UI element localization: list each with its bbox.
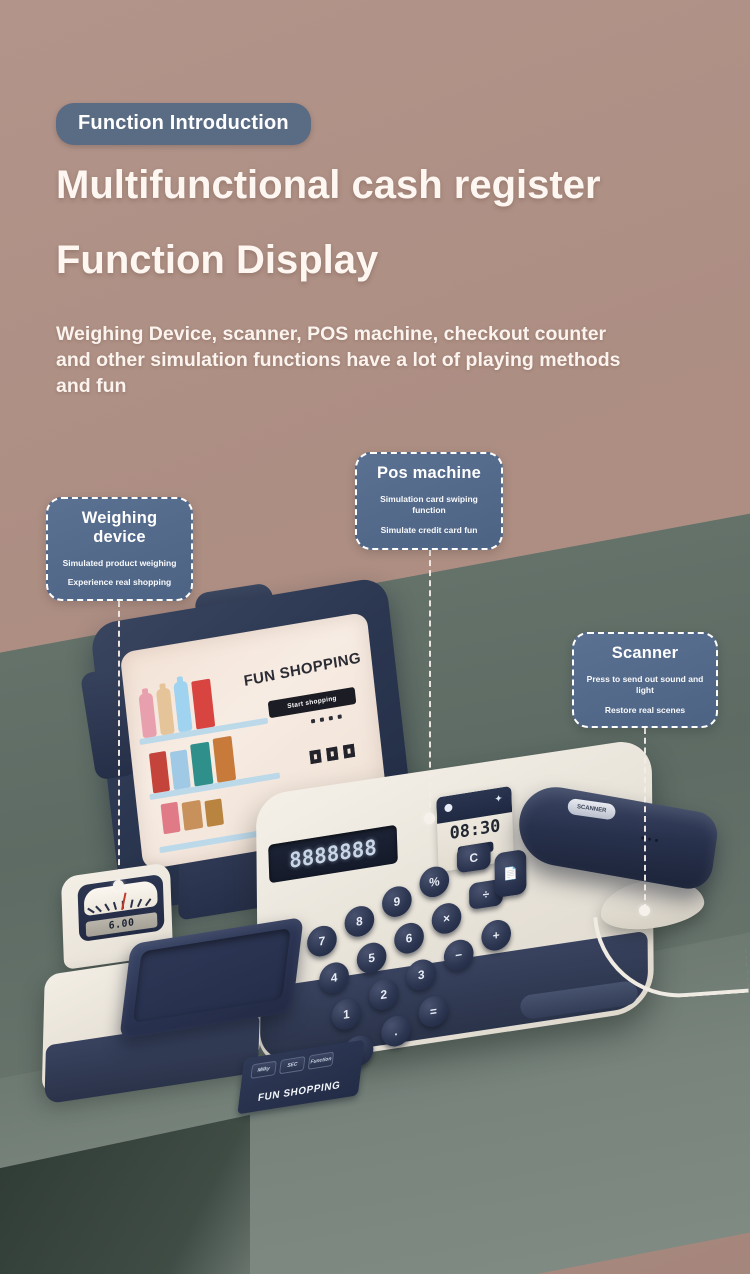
leader-line-weighing xyxy=(118,601,120,885)
start-shopping-button[interactable]: Start shopping xyxy=(268,687,357,718)
leader-dot-scanner xyxy=(639,905,650,916)
leader-line-scanner xyxy=(644,728,646,910)
callout-line-2: Restore real scenes xyxy=(582,705,708,716)
key-4[interactable]: 4 xyxy=(319,960,349,995)
callout-line-1: Simulated product weighing xyxy=(56,558,183,569)
key-8[interactable]: 8 xyxy=(344,904,374,939)
key-9[interactable]: 9 xyxy=(382,884,412,919)
key-percent-top[interactable]: % xyxy=(419,865,449,900)
key-print[interactable]: 📄 xyxy=(494,849,526,898)
callout-weighing-device[interactable]: Weighing device Simulated product weighi… xyxy=(46,497,193,601)
star-icon: ✦ xyxy=(494,793,503,805)
plate-button-1[interactable]: Milky xyxy=(250,1061,276,1079)
plate-button-row[interactable]: Milky SEC Function xyxy=(250,1051,334,1078)
screen-brand-text: FUN SHOPPING xyxy=(241,649,363,690)
key-clear[interactable]: C xyxy=(457,842,491,873)
callout-line-2: Simulate credit card fun xyxy=(365,525,493,536)
callout-title: Weighing device xyxy=(56,509,183,547)
callout-title: Scanner xyxy=(582,644,708,663)
screen-dots xyxy=(311,714,342,723)
page-title-line2: Function Display xyxy=(56,240,716,280)
start-shopping-label: Start shopping xyxy=(287,695,337,710)
key-1[interactable]: 1 xyxy=(331,997,361,1032)
poster-stage: Function Introduction Multifunctional ca… xyxy=(0,0,750,1274)
callout-line-1: Press to send out sound and light xyxy=(582,674,708,697)
leader-dot-pos xyxy=(424,813,435,824)
plate-button-3[interactable]: Function xyxy=(308,1051,334,1069)
leader-line-pos xyxy=(429,550,431,818)
page-subtitle: Weighing Device, scanner, POS machine, c… xyxy=(56,322,636,400)
callout-title: Pos machine xyxy=(365,464,493,483)
key-7[interactable]: 7 xyxy=(307,924,337,959)
key-5[interactable]: 5 xyxy=(357,941,387,976)
key-6[interactable]: 6 xyxy=(394,921,424,956)
weighing-tray-inner xyxy=(133,928,291,1023)
scanner-badge: SCANNER xyxy=(567,798,616,821)
section-badge: Function Introduction xyxy=(56,103,311,145)
key-2[interactable]: 2 xyxy=(369,977,399,1012)
callout-line-1: Simulation card swiping function xyxy=(365,494,493,517)
moon-icon xyxy=(444,803,452,812)
callout-line-2: Experience real shopping xyxy=(56,577,183,588)
key-minus[interactable]: − xyxy=(444,938,474,973)
callout-pos-machine[interactable]: Pos machine Simulation card swiping func… xyxy=(355,452,503,550)
goods-row-3 xyxy=(161,794,224,834)
plate-brand-text: FUN SHOPPING xyxy=(238,1077,360,1107)
page-title-line1: Multifunctional cash register xyxy=(56,165,716,205)
plate-button-2[interactable]: SEC xyxy=(279,1056,305,1074)
key-multiply[interactable]: × xyxy=(432,901,462,936)
callout-scanner[interactable]: Scanner Press to send out sound and ligh… xyxy=(572,632,718,728)
leader-dot-weighing xyxy=(113,880,124,891)
key-plus[interactable]: + xyxy=(481,918,511,953)
key-3[interactable]: 3 xyxy=(406,957,436,992)
screen-icon-row[interactable] xyxy=(309,744,355,764)
